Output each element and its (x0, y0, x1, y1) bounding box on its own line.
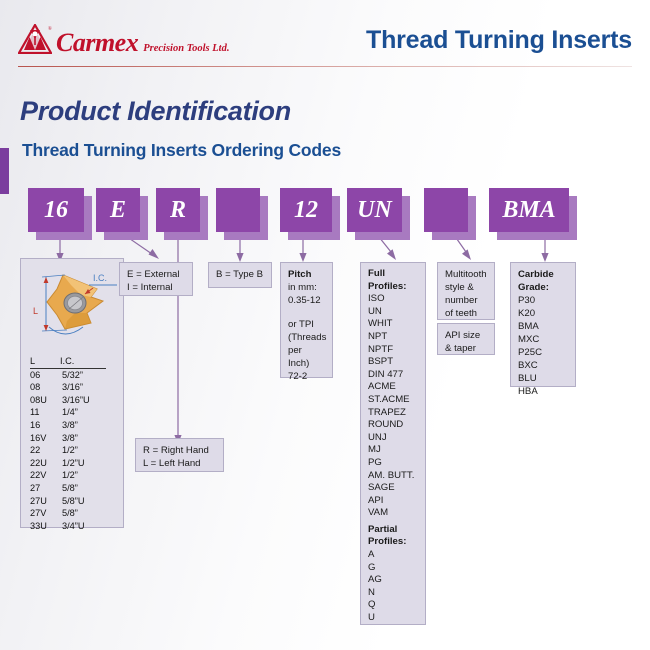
section-subtitle: Thread Turning Inserts Ordering Codes (22, 140, 341, 161)
list-item: BXC (518, 359, 568, 372)
carbide-title-2: Grade: (518, 281, 568, 294)
header-divider (18, 66, 632, 67)
cell-ic: 5/32” (62, 369, 114, 382)
cell-ic: 3/16”U (62, 394, 114, 407)
list-item: MXC (518, 333, 568, 346)
table-row: 111/4” (30, 406, 116, 419)
list-item: ISO (368, 293, 418, 306)
list-item: Q (368, 599, 418, 612)
accent-bar (0, 148, 9, 194)
box-internal-external: E = External I = Internal (119, 262, 193, 296)
table-row: 16V3/8” (30, 432, 116, 445)
insert-dimension-box: L I.C. L I.C. 065/32”083/16”08U3/16”U111… (20, 258, 124, 528)
code-box-8[interactable]: BMA (489, 188, 569, 232)
multitooth-line-1: Multitooth (445, 268, 487, 281)
full-profiles-title-2: Profiles: (368, 281, 418, 294)
carbide-grade-list: P30K20BMAMXCP25CBXCBLUHBA (518, 294, 568, 398)
cell-ic: 3/8” (62, 432, 114, 445)
label-type-b: B = Type B (216, 268, 264, 281)
code-box-2[interactable]: E (96, 188, 140, 232)
code-box-1[interactable]: 16 (28, 188, 84, 232)
list-item: UN (368, 306, 418, 319)
box-profiles: Full Profiles: ISOUNWHITNPTNPTFBSPTDIN 4… (360, 262, 426, 625)
label-internal: I = Internal (127, 281, 185, 294)
list-item: P25C (518, 346, 568, 359)
list-item: TRAPEZ (368, 407, 418, 420)
table-header-ic: I.C. (60, 355, 106, 369)
insert-illustration: L I.C. (21, 261, 123, 349)
table-header-row: L I.C. (30, 355, 116, 369)
cell-l: 27U (30, 495, 62, 508)
cell-l: 27V (30, 507, 62, 520)
cell-l: 22 (30, 444, 62, 457)
table-row: 27U5/8”U (30, 495, 116, 508)
list-item: U (368, 612, 418, 625)
cell-l: 22U (30, 457, 62, 470)
cell-ic: 1/4” (62, 406, 114, 419)
table-row: 083/16” (30, 381, 116, 394)
cell-l: 11 (30, 406, 62, 419)
label-external: E = External (127, 268, 185, 281)
list-item: WHIT (368, 318, 418, 331)
size-table: L I.C. 065/32”083/16”08U3/16”U111/4”163/… (30, 355, 116, 532)
cell-ic: 1/2”U (62, 457, 114, 470)
list-item: UNJ (368, 432, 418, 445)
cell-ic: 3/8” (62, 419, 114, 432)
table-header-l: L (30, 355, 60, 369)
table-row: 27V5/8” (30, 507, 116, 520)
partial-profiles-title-2: Profiles: (368, 536, 418, 549)
dim-label-l: L (33, 306, 38, 316)
pitch-range-mm: 0.35-12 (288, 294, 325, 307)
box-type-b: B = Type B (208, 262, 272, 288)
list-item: A (368, 549, 418, 562)
list-item: ST.ACME (368, 394, 418, 407)
pitch-range-tpi: 72-2 (288, 370, 325, 383)
list-item: BLU (518, 372, 568, 385)
table-row: 08U3/16”U (30, 394, 116, 407)
label-right-hand: R = Right Hand (143, 444, 216, 457)
cell-l: 33U (30, 520, 62, 533)
list-item: PG (368, 457, 418, 470)
cell-ic: 1/2” (62, 444, 114, 457)
list-item: SAGE (368, 482, 418, 495)
table-row: 33U3/4”U (30, 520, 116, 533)
box-multitooth: Multitooth style & number of teeth (437, 262, 495, 320)
partial-profiles-title-1: Partial (368, 524, 418, 537)
pitch-tpi-label: or TPI (288, 318, 325, 331)
page-title: Thread Turning Inserts (366, 26, 632, 55)
carbide-title-1: Carbide (518, 268, 568, 281)
full-profiles-list: ISOUNWHITNPTNPTFBSPTDIN 477ACMEST.ACMETR… (368, 293, 418, 520)
code-box-3[interactable]: R (156, 188, 200, 232)
cell-ic: 5/8”U (62, 495, 114, 508)
list-item: K20 (518, 307, 568, 320)
list-item: BSPT (368, 356, 418, 369)
page-header: ® Carmex Precision Tools Ltd. Thread Tur… (0, 0, 650, 72)
pitch-title: Pitch (288, 268, 325, 281)
full-profiles-title-1: Full (368, 268, 418, 281)
brand-logo: ® Carmex Precision Tools Ltd. (18, 24, 229, 56)
list-item: ACME (368, 381, 418, 394)
table-row: 221/2” (30, 444, 116, 457)
list-item: G (368, 562, 418, 575)
code-box-6[interactable]: UN (347, 188, 402, 232)
brand-name: Carmex (56, 30, 138, 56)
code-box-4[interactable] (216, 188, 260, 232)
list-item: P30 (518, 294, 568, 307)
cell-ic: 1/2” (62, 469, 114, 482)
cell-l: 06 (30, 369, 62, 382)
section-title: Product Identification (20, 96, 291, 127)
multitooth-line-3: number (445, 294, 487, 307)
cell-l: 27 (30, 482, 62, 495)
list-item: NPT (368, 331, 418, 344)
cell-l: 22V (30, 469, 62, 482)
table-row: 22U1/2”U (30, 457, 116, 470)
multitooth-line-4: of teeth (445, 307, 487, 320)
svg-text:®: ® (48, 26, 52, 32)
table-row: 22V1/2” (30, 469, 116, 482)
list-item: N (368, 587, 418, 600)
list-item: VAM (368, 507, 418, 520)
list-item: NPTF (368, 344, 418, 357)
table-row: 275/8” (30, 482, 116, 495)
brand-tagline: Precision Tools Ltd. (143, 44, 229, 55)
table-row: 163/8” (30, 419, 116, 432)
cell-ic: 3/4”U (62, 520, 114, 533)
list-item: AG (368, 574, 418, 587)
pitch-tpi-desc-2: per Inch) (288, 344, 325, 370)
list-item: ROUND (368, 419, 418, 432)
api-line-1: API size (445, 329, 487, 342)
dim-label-ic: I.C. (93, 273, 107, 283)
cell-l: 08 (30, 381, 62, 394)
table-row: 065/32” (30, 369, 116, 382)
list-item: DIN 477 (368, 369, 418, 382)
list-item: MJ (368, 444, 418, 457)
list-item: HBA (518, 385, 568, 398)
carmex-triangle-logo-icon: ® (18, 24, 52, 54)
pitch-unit: in mm: (288, 281, 325, 294)
list-item: API (368, 495, 418, 508)
box-carbide-grade: Carbide Grade: P30K20BMAMXCP25CBXCBLUHBA (510, 262, 576, 387)
code-box-5[interactable]: 12 (280, 188, 332, 232)
pitch-tpi-desc-1: (Threads (288, 331, 325, 344)
cell-ic: 5/8” (62, 482, 114, 495)
list-item: BMA (518, 320, 568, 333)
cell-l: 08U (30, 394, 62, 407)
box-api-size: API size & taper (437, 323, 495, 355)
box-pitch: Pitch in mm: 0.35-12 or TPI (Threads per… (280, 262, 333, 378)
cell-ic: 5/8” (62, 507, 114, 520)
box-hand-direction: R = Right Hand L = Left Hand (135, 438, 224, 472)
code-box-7[interactable] (424, 188, 468, 232)
api-line-2: & taper (445, 342, 487, 355)
label-left-hand: L = Left Hand (143, 457, 216, 470)
list-item: AM. BUTT. (368, 470, 418, 483)
partial-profiles-list: AGAGNQU (368, 549, 418, 625)
multitooth-line-2: style & (445, 281, 487, 294)
cell-l: 16V (30, 432, 62, 445)
cell-l: 16 (30, 419, 62, 432)
document-page: ® Carmex Precision Tools Ltd. Thread Tur… (0, 0, 650, 650)
cell-ic: 3/16” (62, 381, 114, 394)
